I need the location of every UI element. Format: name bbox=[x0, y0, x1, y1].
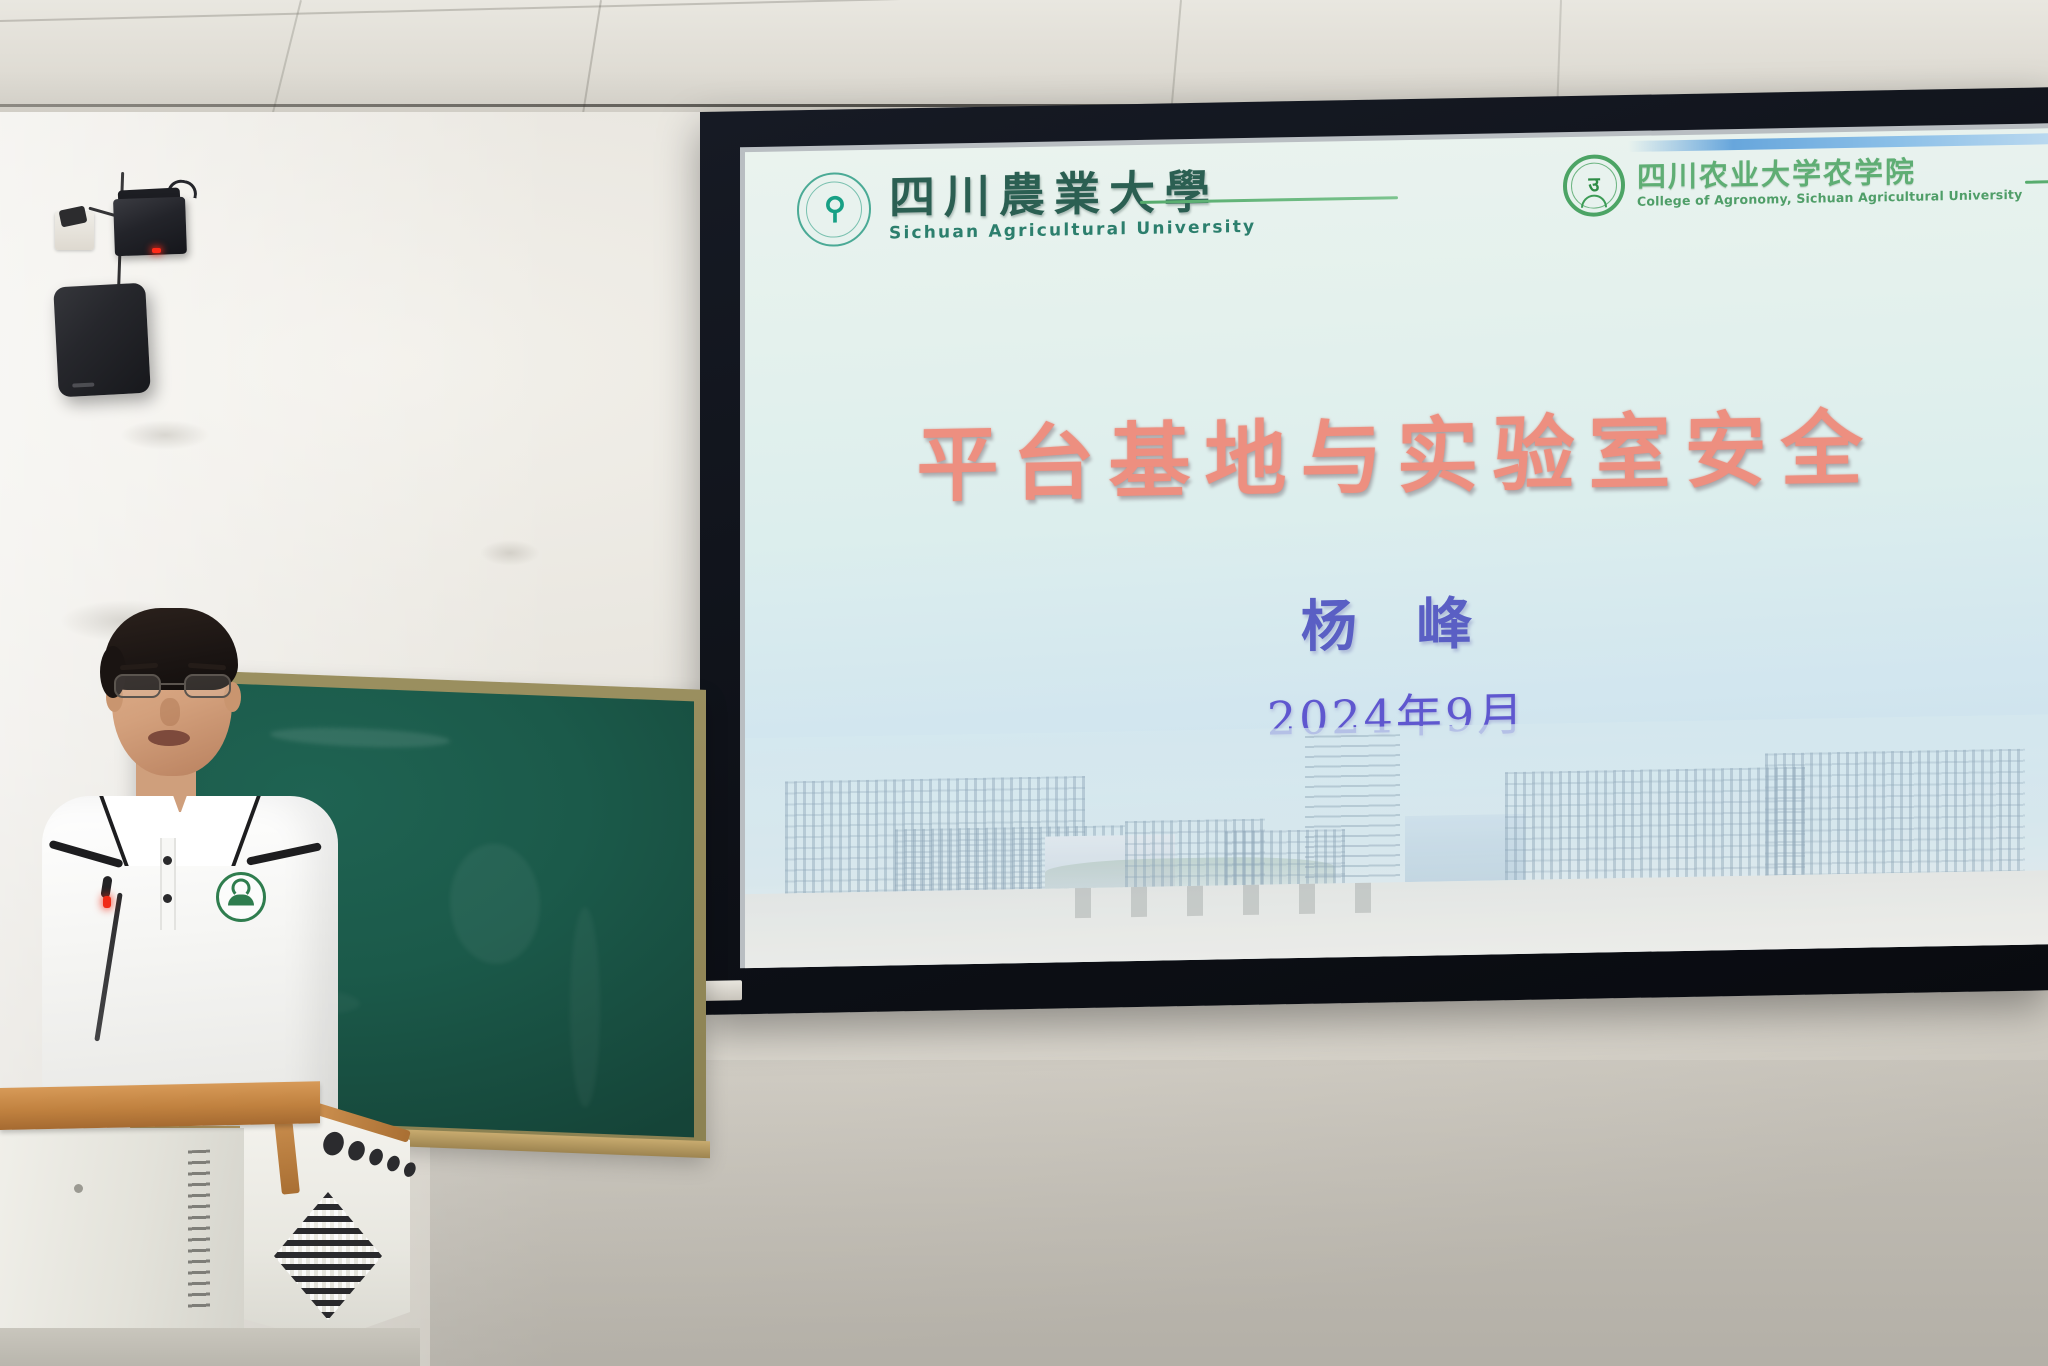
college-branding: उ 四川农业大学农学院 College of Agronomy, Sichuan… bbox=[1563, 147, 2022, 217]
university-seal-icon: ⚲ bbox=[797, 172, 871, 247]
campus-monument bbox=[1075, 878, 1415, 918]
presenter bbox=[24, 600, 354, 1120]
shirt-button bbox=[163, 894, 172, 903]
slide-author: 杨 峰 bbox=[745, 568, 2048, 673]
shirt-placket bbox=[160, 838, 176, 930]
classroom-scene: ⚲ 四川農業大學 Sichuan Agricultural University… bbox=[0, 0, 2048, 1366]
shirt-emblem-icon bbox=[216, 872, 266, 922]
wall-smudge bbox=[480, 540, 540, 566]
power-led-icon bbox=[152, 248, 161, 253]
college-seal-icon: उ bbox=[1563, 154, 1625, 217]
presentation-slide[interactable]: ⚲ 四川農業大學 Sichuan Agricultural University… bbox=[745, 128, 2048, 968]
podium-desktop bbox=[0, 1081, 320, 1130]
wall-smudge bbox=[120, 420, 210, 450]
university-branding: ⚲ 四川農業大學 Sichuan Agricultural University bbox=[797, 165, 1256, 247]
wall-mounted-speaker bbox=[53, 283, 151, 398]
floor bbox=[0, 1328, 420, 1366]
ventilation-slots-icon bbox=[188, 1150, 210, 1311]
university-name-cn: 四川農業大學 bbox=[889, 167, 1256, 222]
lecture-podium bbox=[0, 1088, 460, 1366]
shirt-button bbox=[163, 856, 172, 865]
campus-panorama-image bbox=[745, 714, 2048, 968]
projection-screen[interactable]: ⚲ 四川農業大學 Sichuan Agricultural University… bbox=[740, 123, 2048, 968]
accent-rule-right bbox=[2025, 177, 2048, 183]
mouth bbox=[148, 730, 190, 746]
microphone-led-icon bbox=[103, 896, 111, 908]
nose bbox=[160, 698, 180, 726]
wireless-microphone-receiver[interactable] bbox=[113, 197, 187, 256]
screen-pull-tab[interactable] bbox=[704, 980, 742, 1001]
glasses-icon bbox=[112, 674, 234, 700]
projection-screen-frame: ⚲ 四川農業大學 Sichuan Agricultural University… bbox=[700, 87, 2048, 1015]
slide-title: 平台基地与实验室安全 bbox=[745, 378, 2048, 521]
podium-screw bbox=[74, 1184, 83, 1193]
